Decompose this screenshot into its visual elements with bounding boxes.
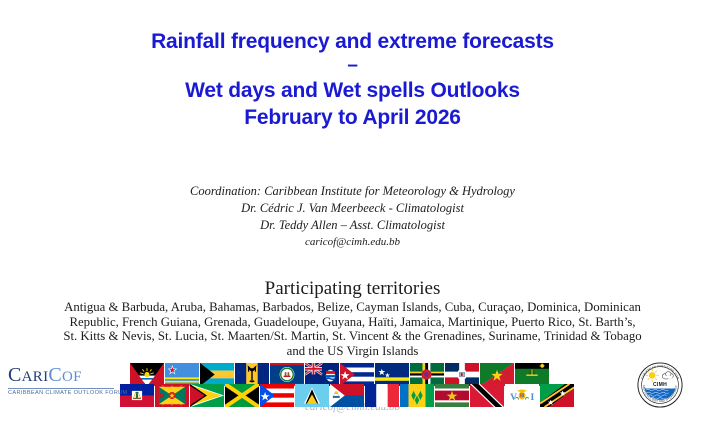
- coordination-block: Coordination: Caribbean Institute for Me…: [0, 183, 705, 250]
- presentation-slide: Rainfall frequency and extreme forecasts…: [0, 0, 705, 427]
- flag-dominica: [410, 363, 444, 386]
- title-dash: –: [0, 55, 705, 77]
- flag-st-vincent-and-the-grenadines: [400, 384, 434, 407]
- flag-cayman-islands: [305, 363, 339, 386]
- flag-curacao: [375, 363, 409, 386]
- flag-antigua-and-barbuda: [130, 363, 164, 386]
- flag-dominican-republic: [445, 363, 479, 386]
- caricof-letters-of: OF: [62, 369, 82, 385]
- caricof-wordmark: CARICOF: [8, 365, 116, 387]
- flag-st-maarten: [330, 384, 364, 407]
- title-line-2: Wet days and Wet spells Outlooks: [0, 77, 705, 104]
- flag-us-virgin-islands: V I: [505, 384, 539, 407]
- cimh-seal-graphic: CARIBBEAN INSTITUTE FOR METEOROLOGY AND …: [637, 362, 683, 408]
- flag-french-guiana: [480, 363, 514, 386]
- flag-grenada: [155, 384, 189, 407]
- slide-title: Rainfall frequency and extreme forecasts…: [0, 28, 705, 131]
- flag-aruba: [165, 363, 199, 386]
- coordination-person-1: Dr. Cédric J. Van Meerbeeck - Climatolog…: [0, 200, 705, 217]
- caricof-letter-c2: C: [48, 364, 62, 386]
- flag-trinidad-and-tobago: [470, 384, 504, 407]
- caricof-logo: CARICOF CARIBBEAN CLIMATE OUTLOOK FORUM: [8, 365, 116, 396]
- title-line-3: February to April 2026: [0, 104, 705, 131]
- caricof-letter-c1: C: [8, 364, 22, 386]
- flag-row-2: V I: [120, 384, 625, 407]
- participating-territories-list: Antigua & Barbuda, Aruba, Bahamas, Barba…: [62, 300, 643, 359]
- flag-barbados: [235, 363, 269, 386]
- flag-st-kitts-and-nevis: [540, 384, 574, 407]
- caricof-rule: [8, 388, 114, 389]
- svg-text:I: I: [531, 392, 535, 403]
- territories-line-1: Antigua & Barbuda, Aruba, Bahamas, Barba…: [64, 300, 581, 314]
- coordination-email[interactable]: caricof@cimh.edu.bb: [0, 234, 705, 250]
- participating-territories-flags: V I: [120, 363, 625, 419]
- coordination-institute: Coordination: Caribbean Institute for Me…: [0, 183, 705, 200]
- flag-st-lucia: [295, 384, 329, 407]
- svg-text:CIMH: CIMH: [653, 382, 667, 388]
- coordination-person-2: Dr. Teddy Allen – Asst. Climatologist: [0, 217, 705, 234]
- flag-puerto-rico: [260, 384, 294, 407]
- caricof-subtitle: CARIBBEAN CLIMATE OUTLOOK FORUM: [8, 390, 116, 396]
- flag-row-1: [120, 363, 625, 386]
- flag-guadeloupe: [515, 363, 549, 386]
- caricof-letters-ari: ARI: [22, 369, 49, 385]
- flag-belize: [270, 363, 304, 386]
- cimh-seal-logo: CARIBBEAN INSTITUTE FOR METEOROLOGY AND …: [637, 362, 683, 408]
- title-line-1: Rainfall frequency and extreme forecasts: [0, 28, 705, 55]
- flag-st-barths: [365, 384, 399, 407]
- flag-suriname: [435, 384, 469, 407]
- flag-bahamas: [200, 363, 234, 386]
- flag-jamaica: [225, 384, 259, 407]
- flag-cuba: [340, 363, 374, 386]
- flag-guyana: [190, 384, 224, 407]
- participating-territories-heading: Participating territories: [0, 277, 705, 300]
